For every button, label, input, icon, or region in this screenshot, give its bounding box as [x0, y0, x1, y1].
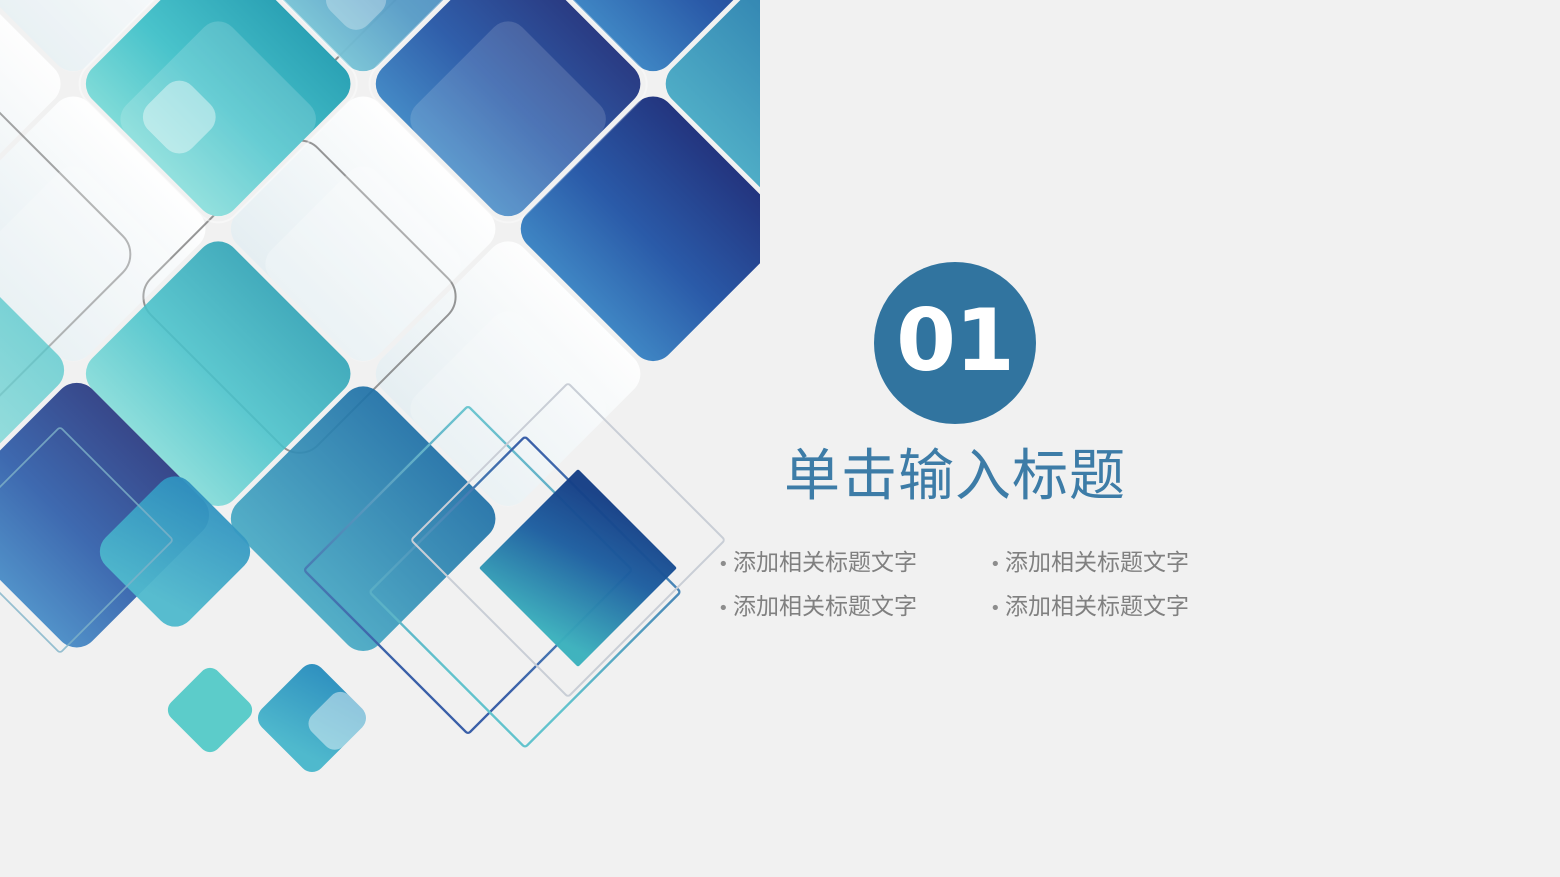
section-number: 01: [896, 298, 1014, 384]
bullet-dot-icon: •: [990, 595, 1005, 623]
bullet-dot-icon: •: [718, 595, 733, 623]
list-item-label: 添加相关标题文字: [733, 546, 917, 582]
list-item[interactable]: • 添加相关标题文字: [718, 546, 990, 582]
list-item-label: 添加相关标题文字: [733, 590, 917, 626]
section-content: 01 单击输入标题 • 添加相关标题文字 • 添加相关标题文字 • 添加相关标题…: [700, 262, 1210, 626]
abstract-blue-diamond-artwork: [0, 0, 760, 830]
slide-canvas: 01 单击输入标题 • 添加相关标题文字 • 添加相关标题文字 • 添加相关标题…: [0, 0, 1560, 877]
bullet-list: • 添加相关标题文字 • 添加相关标题文字 • 添加相关标题文字 • 添加相关标…: [700, 546, 1210, 625]
section-number-badge: 01: [874, 262, 1036, 424]
page-title[interactable]: 单击输入标题: [700, 446, 1210, 509]
bullet-dot-icon: •: [990, 551, 1005, 579]
list-item[interactable]: • 添加相关标题文字: [990, 590, 1262, 626]
list-item-label: 添加相关标题文字: [1005, 546, 1189, 582]
badge-row: 01: [700, 262, 1210, 424]
list-item[interactable]: • 添加相关标题文字: [718, 590, 990, 626]
bullet-dot-icon: •: [718, 551, 733, 579]
list-item[interactable]: • 添加相关标题文字: [990, 546, 1262, 582]
list-item-label: 添加相关标题文字: [1005, 590, 1189, 626]
